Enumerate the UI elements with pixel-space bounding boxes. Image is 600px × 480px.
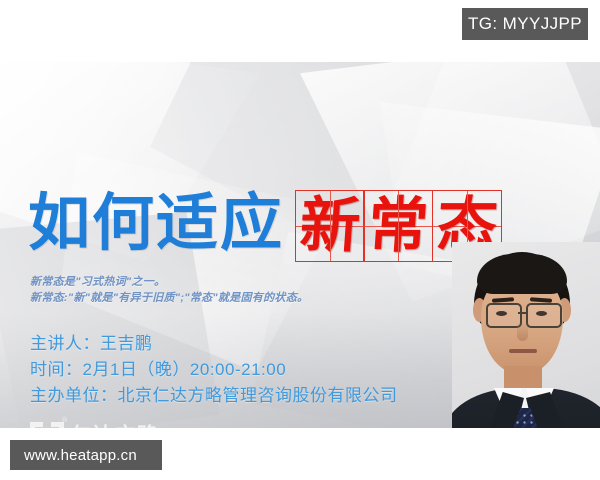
company-logo: ® 仁达方略® REDETAC CONSULTING — [30, 422, 180, 428]
boxed-char-cell: 新 — [295, 190, 365, 262]
boxed-char-cell: 常 — [363, 190, 433, 262]
logo-text: ® 仁达方略® REDETAC CONSULTING — [71, 422, 180, 428]
poster-banner[interactable]: 如何适应 新 常 态 新常态是"习式热词"之一。 新常态:"新"就是"有异于旧质… — [0, 62, 600, 428]
info-speaker: 主讲人：王吉鹏 — [30, 331, 153, 356]
boxed-char: 常 — [362, 191, 435, 261]
logo-registered-mark-top: ® — [62, 417, 67, 424]
info-time: 时间：2月1日（晚）20:00-21:00 — [30, 357, 286, 382]
poster-title: 如何适应 — [28, 187, 284, 265]
photo-fringe — [477, 254, 567, 294]
glasses-icon — [526, 303, 562, 328]
info-organizer: 主办单位：北京仁达方略管理咨询股份有限公司 — [30, 383, 398, 408]
logo-emblem-icon — [30, 422, 64, 428]
subtitle-line-1: 新常态是"习式热词"之一。 — [30, 275, 165, 289]
title-blue-text: 如何适应 — [28, 187, 284, 259]
photo-mouth — [509, 349, 537, 353]
speaker-photo — [452, 242, 600, 428]
tg-badge-label: TG: MYYJJPP — [468, 14, 582, 34]
glasses-bridge — [518, 312, 526, 314]
website-url-bar[interactable]: www.heatapp.cn — [10, 440, 162, 470]
tg-badge: TG: MYYJJPP — [462, 8, 588, 40]
boxed-char: 新 — [293, 191, 366, 261]
subtitle-line-2: 新常态:"新"就是"有异于旧质";"常态"就是固有的状态。 — [30, 291, 308, 305]
photo-nose — [517, 322, 528, 341]
logo-cn-text: 仁达方略 — [71, 425, 159, 428]
screenshot-root: TG: MYYJJPP 如何适应 新 常 态 新常态是"习式热词"之一。 — [0, 0, 600, 480]
logo-cn-name: 仁达方略® — [71, 422, 180, 428]
website-url-label: www.heatapp.cn — [24, 447, 137, 464]
